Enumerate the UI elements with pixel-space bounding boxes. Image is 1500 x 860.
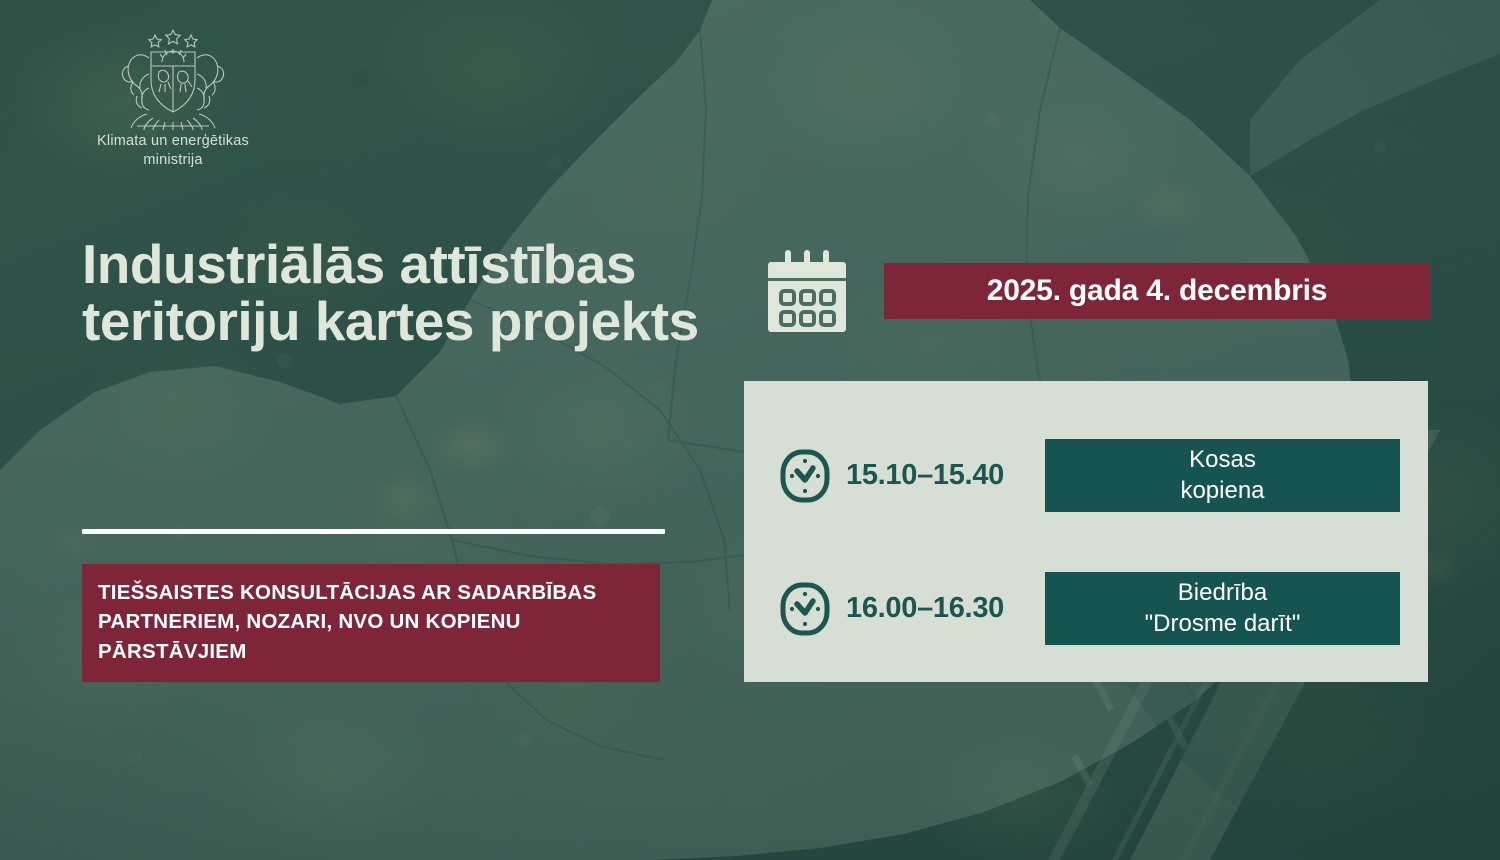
schedule-time: 15.10–15.40 bbox=[846, 459, 1004, 492]
participant-line-2: "Drosme darīt" bbox=[1145, 609, 1301, 640]
clock-icon bbox=[780, 582, 830, 636]
clock-icon bbox=[780, 449, 830, 503]
schedule-row: 16.00–16.30 Biedrība "Drosme darīt" bbox=[744, 572, 1428, 645]
calendar-icon bbox=[768, 248, 846, 336]
event-date-banner: 2025. gada 4. decembris bbox=[884, 263, 1430, 319]
schedule-time: 16.00–16.30 bbox=[846, 592, 1004, 625]
schedule-row: 15.10–15.40 Kosas kopiena bbox=[744, 439, 1428, 512]
schedule-participant: Kosas kopiena bbox=[1045, 439, 1400, 512]
ministry-name: Klimata un enerģētikas ministrija bbox=[78, 132, 268, 169]
schedule-panel: 15.10–15.40 Kosas kopiena 16.00–16.30 Bi… bbox=[744, 381, 1428, 682]
latvia-coat-of-arms-icon bbox=[107, 22, 239, 130]
participant-line-1: Biedrība bbox=[1178, 578, 1267, 609]
ministry-logo: Klimata un enerģētikas ministrija bbox=[78, 22, 268, 169]
subtitle-banner: TIEŠSAISTES KONSULTĀCIJAS AR SADARBĪBAS … bbox=[82, 564, 660, 682]
participant-line-1: Kosas bbox=[1189, 445, 1256, 476]
title-divider bbox=[82, 529, 665, 534]
page-title: Industriālās attīstības teritoriju karte… bbox=[82, 236, 722, 349]
schedule-participant: Biedrība "Drosme darīt" bbox=[1045, 572, 1400, 645]
participant-line-2: kopiena bbox=[1180, 476, 1264, 507]
